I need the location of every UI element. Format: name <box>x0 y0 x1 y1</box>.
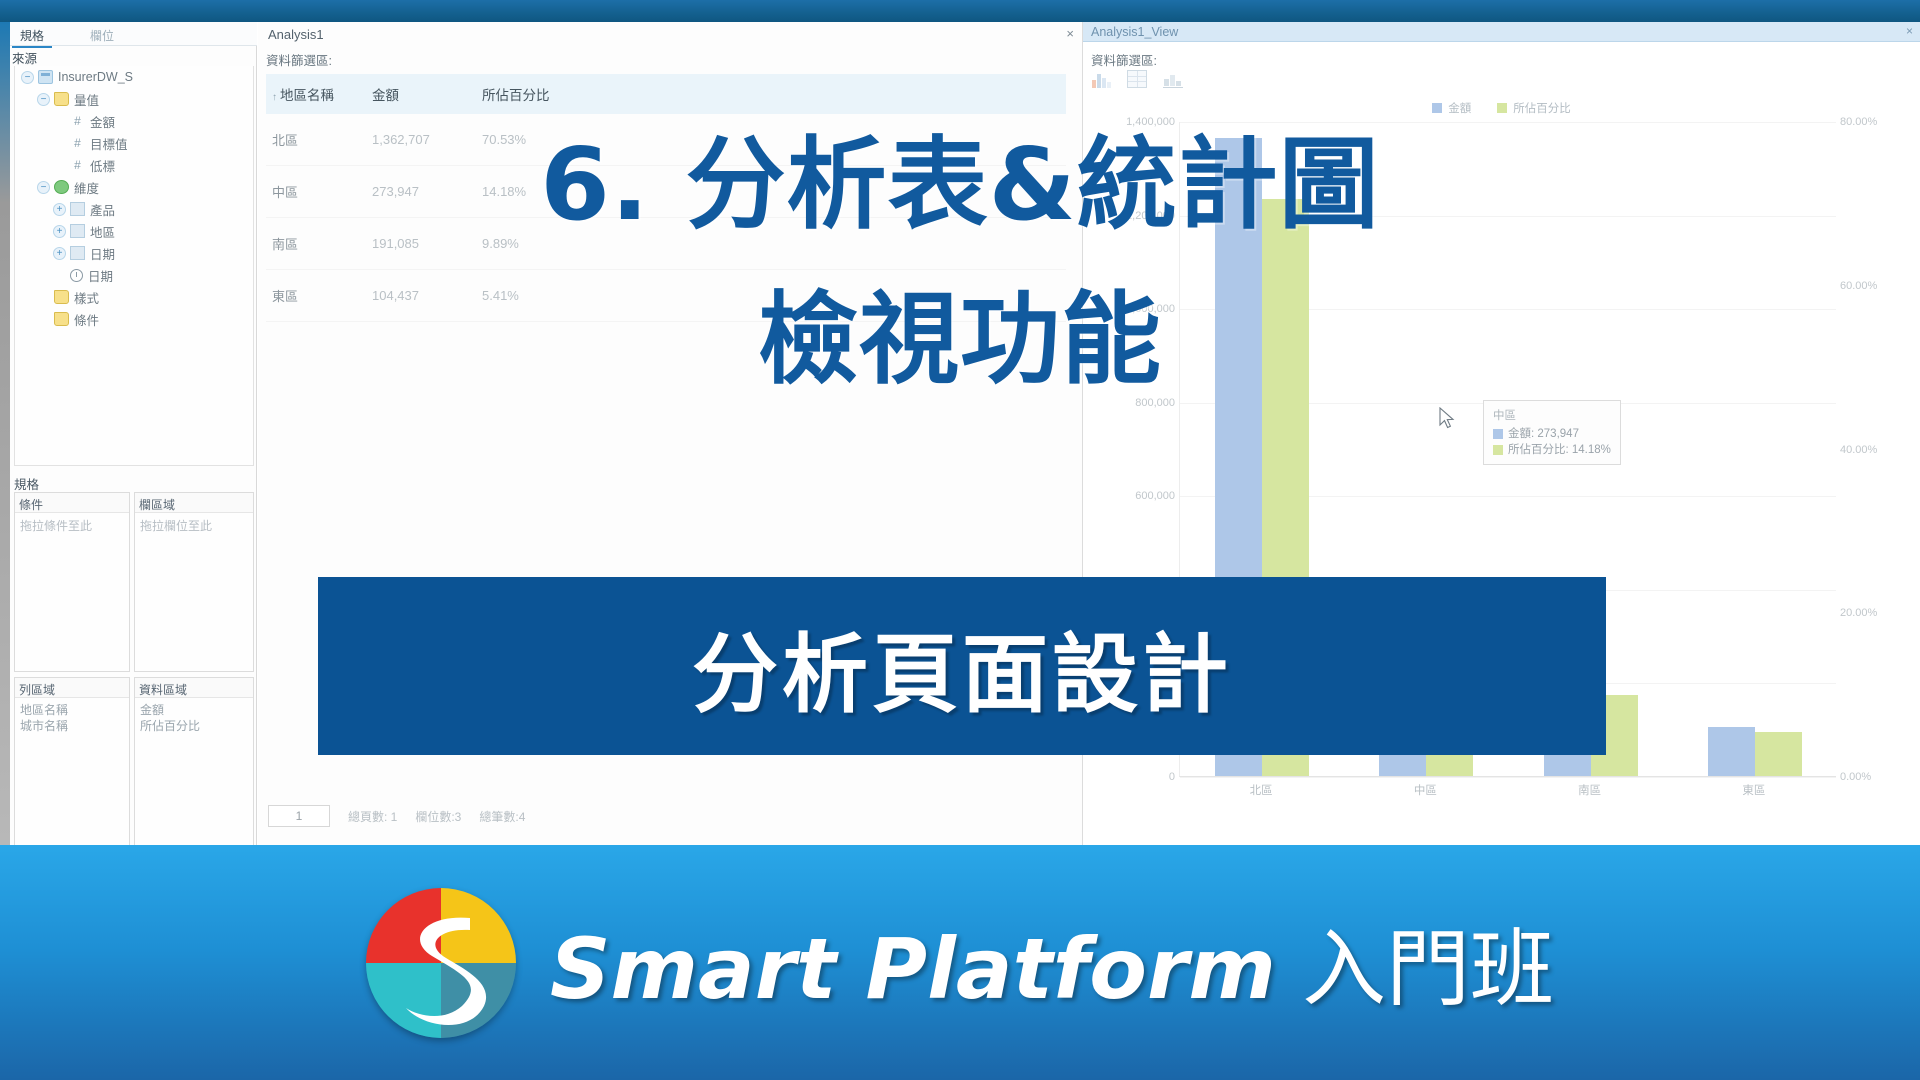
tab-spec[interactable]: 規格 <box>12 25 52 48</box>
list-item[interactable]: 城市名稱 <box>20 718 124 734</box>
tooltip-title: 中區 <box>1493 407 1611 423</box>
y-axis-right-tick: 80.00% <box>1840 116 1877 128</box>
hash-icon: # <box>70 114 85 128</box>
tree-node-量值[interactable]: −量值 <box>15 88 253 110</box>
dropzone-conditions-title: 條件 <box>15 493 129 513</box>
chart-panel-title: Analysis1_View <box>1091 25 1178 39</box>
legend-swatch-icon <box>1493 429 1503 439</box>
legend-item-金額[interactable]: 金額 <box>1432 100 1471 116</box>
sidebar-tabstrip: 規格 欄位 <box>10 22 257 46</box>
dropzone-row-area-title: 列區域 <box>15 678 129 698</box>
collapse-icon[interactable]: − <box>21 71 34 84</box>
overlay-banner: 分析頁面設計 <box>318 577 1606 755</box>
dropzone-data-area-title: 資料區域 <box>135 678 253 698</box>
column-header-amount[interactable]: 金額 <box>366 84 476 104</box>
pager: 1 總頁數: 1 欄位數:3 總筆數:4 <box>268 805 525 827</box>
chart-tooltip: 中區 金額: 273,947 所佔百分比: 14.18% <box>1483 400 1621 465</box>
column-count-label: 欄位數:3 <box>415 808 461 825</box>
tooltip-percent-label: 所佔百分比: 14.18% <box>1508 442 1611 458</box>
filter-area-label: 資料篩選區: <box>266 50 332 69</box>
overlay-banner-text: 分析頁面設計 <box>692 604 1232 729</box>
page-number-input[interactable]: 1 <box>268 805 330 827</box>
record-count-label: 總筆數:4 <box>479 808 525 825</box>
page-title: Analysis1 <box>268 27 324 42</box>
dropzone-row-area-items: 地區名稱 城市名稱 <box>15 698 129 851</box>
list-item[interactable]: 所佔百分比 <box>140 718 248 734</box>
y-axis-tick: 800,000 <box>1135 397 1175 409</box>
dropzone-data-area[interactable]: 資料區域 金額 所佔百分比 <box>134 677 254 852</box>
legend-swatch-icon <box>1497 103 1507 113</box>
bar-chart-icon[interactable] <box>1091 70 1111 88</box>
collapse-icon[interactable]: − <box>37 93 50 106</box>
legend-label: 所佔百分比 <box>1513 100 1571 116</box>
tree-node-label: 日期 <box>90 244 115 263</box>
total-pages-label: 總頁數: 1 <box>348 808 397 825</box>
column-header-percent[interactable]: 所佔百分比 <box>476 84 596 104</box>
source-tree[interactable]: −InsurerDW_S−量值#金額#目標值#低標−維度+產品+地區+日期日期樣… <box>14 66 254 466</box>
tab-fields[interactable]: 欄位 <box>82 25 122 46</box>
tree-node-label: 日期 <box>88 266 113 285</box>
close-icon[interactable]: × <box>1066 26 1074 41</box>
y-axis-tick: 0 <box>1169 771 1175 783</box>
close-icon[interactable]: × <box>1906 24 1913 38</box>
table-header-row: ↑地區名稱 金額 所佔百分比 <box>266 74 1066 114</box>
column-header-region[interactable]: ↑地區名稱 <box>266 84 366 104</box>
tooltip-row: 金額: 273,947 <box>1493 426 1611 442</box>
chart-legend: 金額所佔百分比 <box>1083 100 1920 116</box>
cube-icon <box>70 246 85 260</box>
bar-amount[interactable] <box>1708 727 1755 776</box>
brand-bar: Smart Platform入門班 <box>0 845 1920 1080</box>
brand-suffix: 入門班 <box>1302 920 1554 1018</box>
chart-toolbar <box>1091 70 1183 88</box>
bar-percent[interactable] <box>1755 732 1802 776</box>
dropzone-conditions-placeholder: 拖拉條件至此 <box>15 513 129 671</box>
clock-icon <box>70 269 83 282</box>
database-icon <box>38 70 53 84</box>
y-axis-tick: 600,000 <box>1135 490 1175 502</box>
tree-node-label: 金額 <box>90 112 115 131</box>
dropzone-column-area[interactable]: 欄區域 拖拉欄位至此 <box>134 492 254 672</box>
x-axis-tick: 北區 <box>1250 782 1273 798</box>
brand-text: Smart Platform入門班 <box>550 902 1554 1023</box>
window-titlebar <box>0 0 1920 22</box>
dropzone-column-area-title: 欄區域 <box>135 493 253 513</box>
y-axis-right-tick: 20.00% <box>1840 607 1877 619</box>
gridline <box>1180 777 1836 778</box>
tree-node-金額[interactable]: #金額 <box>15 110 253 132</box>
legend-label: 金額 <box>1448 100 1471 116</box>
y-axis-right-tick: 0.00% <box>1840 771 1871 783</box>
spec-section-label: 規格 <box>14 474 254 493</box>
tooltip-amount-label: 金額: 273,947 <box>1508 426 1579 442</box>
smart-platform-logo-icon <box>366 888 516 1038</box>
y-axis-right-tick: 40.00% <box>1840 444 1877 456</box>
tooltip-row: 所佔百分比: 14.18% <box>1493 442 1611 458</box>
chart-filter-area-label: 資料篩選區: <box>1091 50 1157 69</box>
x-axis-tick: 南區 <box>1578 782 1601 798</box>
tree-node-label: 量值 <box>74 90 99 109</box>
source-label: 來源 <box>12 48 37 67</box>
table-icon[interactable] <box>1127 70 1147 88</box>
overlay-title-line2: 檢視功能 <box>0 285 1920 395</box>
dropzone-conditions[interactable]: 條件 拖拉條件至此 <box>14 492 130 672</box>
dropzone-row-area[interactable]: 列區域 地區名稱 城市名稱 <box>14 677 130 852</box>
dropzone-data-area-items: 金額 所佔百分比 <box>135 698 253 851</box>
legend-swatch-icon <box>1432 103 1442 113</box>
tree-node-label: InsurerDW_S <box>58 70 133 84</box>
x-axis-tick: 東區 <box>1742 782 1765 798</box>
brand-name: Smart Platform <box>550 920 1276 1018</box>
legend-item-所佔百分比[interactable]: 所佔百分比 <box>1497 100 1571 116</box>
x-axis-tick: 中區 <box>1414 782 1437 798</box>
mouse-cursor-icon <box>1439 407 1457 431</box>
dropzone-column-area-placeholder: 拖拉欄位至此 <box>135 513 253 671</box>
legend-swatch-icon <box>1493 445 1503 455</box>
sort-ascending-icon[interactable]: ↑ <box>272 92 277 103</box>
grid-icon[interactable] <box>1163 70 1183 88</box>
folder-icon <box>54 92 69 106</box>
chart-panel-titlebar <box>1083 22 1920 42</box>
overlay-title-line1: 6. 分析表&統計圖 <box>0 130 1920 240</box>
expand-icon[interactable]: + <box>53 247 66 260</box>
list-item[interactable]: 地區名稱 <box>20 702 124 718</box>
tree-node-日期[interactable]: 日期 <box>15 264 253 286</box>
tree-node-InsurerDW_S[interactable]: −InsurerDW_S <box>15 66 253 88</box>
tree-node-日期[interactable]: +日期 <box>15 242 253 264</box>
list-item[interactable]: 金額 <box>140 702 248 718</box>
